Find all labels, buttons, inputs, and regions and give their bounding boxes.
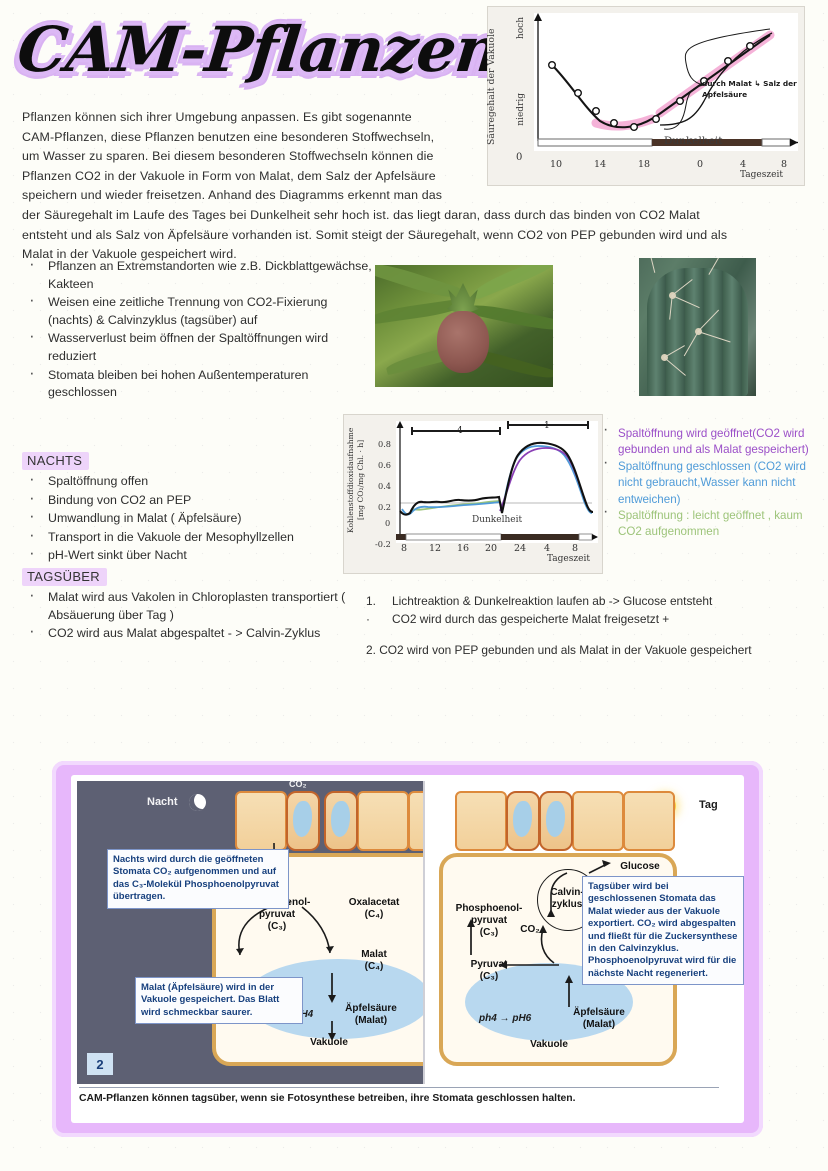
- night-oxalacetat-label: Oxalacetat (C₄): [335, 897, 413, 921]
- chart2-phase-label-1: 1: [544, 421, 550, 431]
- figure-co2-top-label: CO₂: [289, 779, 307, 789]
- chart2-ytick-0.2: 0.2: [378, 502, 391, 512]
- tagsueber-item-1: CO2 wird aus Malat abgespaltet - > Calvi…: [22, 625, 374, 643]
- chart2-xtick-5: 4: [544, 543, 550, 554]
- chart1-x-axis-title: Tageszeit: [740, 170, 783, 180]
- chart1-xtick-3: 0: [697, 159, 703, 170]
- nachts-item-1: Bindung von CO2 an PEP: [22, 492, 374, 510]
- cactus-photo: [639, 258, 756, 396]
- chart2-ytick-0.4: 0.4: [378, 481, 391, 491]
- cam-figure-canvas: Nacht CO₂: [77, 781, 738, 1084]
- tagsueber-section: TAGSÜBER Malat wird aus Vakolen in Chlor…: [22, 566, 374, 644]
- figure-number-badge: 2: [87, 1053, 113, 1075]
- night-callout-1: Nachts wird durch die geöffneten Stomata…: [107, 849, 289, 909]
- chart-saeuregehalt: Säuregehalt der Vakuole hoch niedrig 0: [487, 6, 805, 186]
- steps-marker-2: ·: [366, 611, 370, 629]
- chart2-dunkelheit-label: Dunkelheit: [472, 515, 522, 525]
- facts-item-1: Weisen eine zeitliche Trennung von CO2-F…: [22, 294, 374, 329]
- tagsueber-list: Malat wird aus Vakolen in Chloroplasten …: [22, 589, 374, 643]
- chart2-xtick-3: 20: [485, 543, 497, 554]
- chart1-y-axis-title: Säuregehalt der Vakuole: [486, 19, 500, 145]
- chart2-xtick-4: 24: [514, 543, 526, 554]
- chart1-handwritten-annotation: durch Malat ↳ Salz der Apfelsäure: [702, 79, 798, 100]
- figure-caption: CAM-Pflanzen können tagsüber, wenn sie F…: [79, 1093, 729, 1104]
- nachts-item-3: Transport in die Vakuole der Mesophyllze…: [22, 529, 374, 547]
- moon-icon: [189, 794, 206, 811]
- chart2-ytick-0.6: 0.6: [378, 460, 391, 470]
- steps-text-1: Lichtreaktion & Dunkelreaktion laufen ab…: [392, 594, 712, 608]
- cam-figure-frame: Nacht CO₂: [52, 761, 763, 1137]
- chart2-phase-label-0: 4: [457, 426, 463, 436]
- facts-item-0: Pflanzen an Extremstandorten wie z.B. Di…: [22, 258, 374, 293]
- chart1-xtick-4: 4: [740, 159, 746, 170]
- nachts-item-2: Umwandlung in Malat ( Äpfelsäure): [22, 510, 374, 528]
- steps-spacer: [362, 628, 822, 642]
- chart2-xtick-2: 16: [457, 543, 469, 554]
- nachts-section: NACHTS Spaltöffnung offen Bindung von CO…: [22, 450, 374, 566]
- chart-co2-aufnahme: Kohlenstoffdioxidaufnahme [mg CO₂/mg Chl…: [343, 414, 603, 574]
- chart2-ytick-0.8: 0.8: [378, 439, 391, 449]
- steps-row-1: 1. Lichtreaktion & Dunkelreaktion laufen…: [362, 593, 822, 611]
- steps-row-3: 2. CO2 wird von PEP gebunden und als Mal…: [362, 642, 822, 660]
- nachts-list: Spaltöffnung offen Bindung von CO2 an PE…: [22, 473, 374, 565]
- chart2-xtick-6: 8: [572, 543, 578, 554]
- night-callout-2: Malat (Äpfelsäure) wird in der Vakuole g…: [135, 977, 303, 1024]
- night-vakuole-label: Vakuole: [289, 1037, 369, 1049]
- facts-item-3: Stomata bleiben bei hohen Außentemperatu…: [22, 367, 374, 402]
- colored-note-2: Spaltöffnung : leicht geöffnet , kaum CO…: [600, 508, 826, 541]
- chart1-xtick-2: 18: [638, 159, 650, 170]
- epidermis-cell: [623, 791, 675, 851]
- colored-note-0: Spaltöffnung wird geöffnet(CO2 wird gebu…: [600, 426, 826, 459]
- chart1-xtick-1: 14: [594, 159, 606, 170]
- chart1-xtick-0: 10: [550, 159, 562, 170]
- page-title: CAM-Pflanzen: [13, 2, 493, 97]
- nachts-item-0: Spaltöffnung offen: [22, 473, 374, 491]
- intro-line-6: der Säuregehalt im Laufe des Tages bei D…: [22, 206, 802, 226]
- pineapple-photo: [375, 265, 553, 387]
- chart2-x-axis-title: Tageszeit: [547, 554, 590, 564]
- colored-note-1: Spaltöffnung geschlossen (CO2 wird nicht…: [600, 459, 826, 508]
- chart2-xtick-1: 12: [429, 543, 441, 554]
- steps-row-2: · CO2 wird durch das gespeicherte Malat …: [362, 611, 822, 629]
- chart1-dunkelheit-label: Dunkelheit: [664, 135, 722, 147]
- chart1-y-tick-hoch: hoch: [516, 17, 526, 39]
- chart1-xtick-5: 8: [781, 159, 787, 170]
- colored-notes-list: Spaltöffnung wird geöffnet(CO2 wird gebu…: [600, 426, 826, 541]
- tagsueber-heading: TAGSÜBER: [22, 568, 107, 586]
- intro-line-7: entsteht und als Salz von Äpfelsäure vor…: [22, 226, 802, 246]
- night-malat-label: Malat (C₄): [339, 949, 409, 973]
- tagsueber-item-0: Malat wird aus Vakolen in Chloroplasten …: [22, 589, 374, 624]
- steps-marker-1: 1.: [366, 593, 376, 611]
- night-apfelsaeure-label: Äpfelsäure (Malat): [329, 1003, 413, 1027]
- nachts-item-4: pH-Wert sinkt über Nacht: [22, 547, 374, 565]
- cam-figure-inner: Nacht CO₂: [71, 775, 744, 1123]
- intro-line-5: speichern und wieder freisetzen. Anhand …: [22, 186, 802, 206]
- guard-cell-right: [539, 791, 573, 851]
- epidermis-cell: [572, 791, 624, 851]
- figure-caption-rule: [79, 1087, 719, 1088]
- page-title-container: CAM-Pflanzen: [18, 2, 488, 97]
- facts-list: Pflanzen an Extremstandorten wie z.B. Di…: [22, 258, 374, 403]
- chart1-y-tick-niedrig: niedrig: [516, 93, 526, 126]
- chart2-xtick-0: 8: [401, 543, 407, 554]
- figure-day-label: Tag: [699, 799, 718, 811]
- chart2-ytick-0: 0: [385, 518, 390, 528]
- day-callout-1: Tagsüber wird bei geschlossenen Stomata …: [582, 876, 744, 985]
- steps-notes: 1. Lichtreaktion & Dunkelreaktion laufen…: [362, 593, 822, 660]
- figure-night-label: Nacht: [147, 796, 178, 808]
- epidermis-strip-day: [455, 791, 674, 851]
- chart1-y-tick-zero: 0: [516, 152, 522, 163]
- guard-cell-left: [506, 791, 540, 851]
- steps-text-2: CO2 wird durch das gespeicherte Malat fr…: [392, 612, 669, 626]
- epidermis-cell: [455, 791, 507, 851]
- chart2-ytick-neg0.2: -0.2: [375, 539, 391, 549]
- chart2-y-axis-title: Kohlenstoffdioxidaufnahme [mg CO₂/mg Chl…: [346, 419, 376, 541]
- facts-item-2: Wasserverlust beim öffnen der Spaltöffnu…: [22, 330, 374, 365]
- nachts-heading: NACHTS: [22, 452, 89, 470]
